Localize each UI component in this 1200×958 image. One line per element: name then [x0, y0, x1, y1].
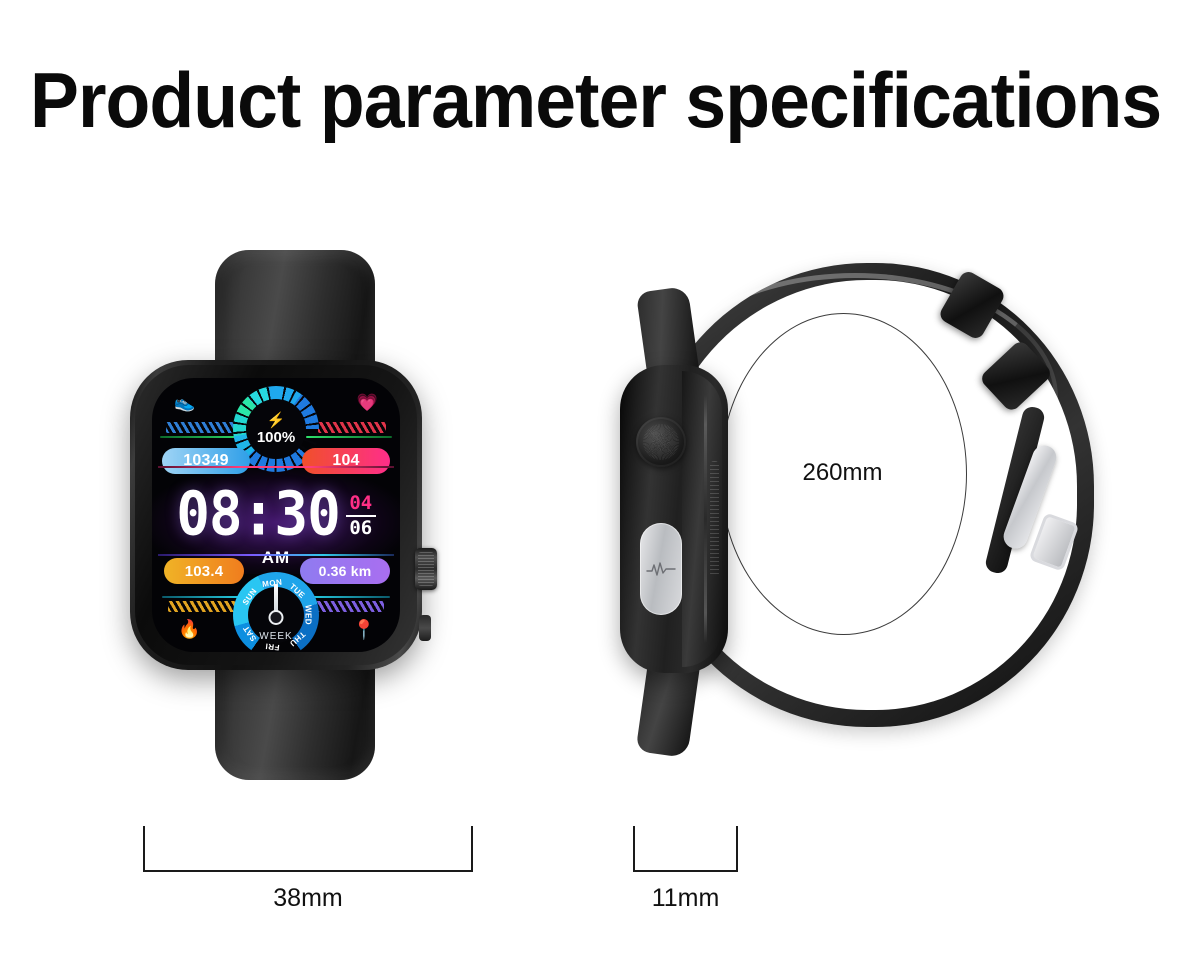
hatch-bar-distance [316, 601, 384, 612]
week-dial: WEEK SUNMONTUEWEDTHUFRISAT [233, 572, 319, 652]
time-label: 08:30 [176, 479, 340, 549]
week-dial-day-tue: TUE [288, 582, 307, 600]
hatch-bar-steps [166, 422, 234, 433]
dimension-line [633, 870, 738, 872]
accent-line-bottom-left [162, 596, 246, 598]
side-edge-highlight [704, 395, 707, 643]
date-top-label: 04 [349, 494, 372, 513]
side-button[interactable] [419, 615, 431, 641]
battery-percent-label: 100% [257, 429, 295, 446]
dimension-line [143, 870, 473, 872]
heart-pulse-icon: 💗 [357, 394, 378, 411]
neon-divider-top [158, 466, 394, 468]
calories-pill: 103.4 [164, 558, 244, 584]
hatch-bar-heart [318, 422, 386, 433]
watch-screen[interactable]: 👟 💗 ⚡ 100% 10349 104 [152, 378, 400, 652]
steps-pill: 10349 [162, 448, 250, 474]
lightning-bolt-icon: ⚡ [257, 413, 295, 428]
dimension-label-width: 38mm [143, 884, 473, 913]
watch-body-side [620, 365, 728, 673]
shoe-icon: 👟 [174, 394, 195, 411]
smartwatch-side-view: 260mm [600, 255, 1160, 785]
crown-button[interactable] [415, 548, 437, 590]
dimension-tick-left [143, 826, 145, 870]
flame-icon: 🔥 [178, 620, 200, 638]
dimension-label-thickness: 11mm [633, 884, 738, 913]
location-pin-icon: 📍 [352, 621, 376, 640]
crown-button-side[interactable] [636, 417, 686, 467]
hatch-bar-calories [168, 601, 236, 612]
band-circumference-label: 260mm [720, 313, 965, 633]
week-dial-day-mon: MON [262, 578, 283, 589]
dimension-tick-left [633, 826, 635, 870]
week-dial-hub [269, 610, 284, 625]
distance-pill: 0.36 km [300, 558, 390, 584]
heart-rate-pill: 104 [302, 448, 390, 474]
watch-face: 👟 💗 ⚡ 100% 10349 104 [152, 378, 400, 652]
ecg-wave-icon [646, 559, 676, 579]
accent-line-bottom-right [306, 596, 390, 598]
page-title: Product parameter specifications [30, 60, 1120, 142]
dimension-tick-right [736, 826, 738, 870]
date-stack: 04 06 [346, 494, 376, 538]
ecg-sensor-pad [640, 523, 682, 615]
product-spec-page: Product parameter specifications 👟 💗 [0, 0, 1200, 958]
watch-body: 👟 💗 ⚡ 100% 10349 104 [130, 360, 422, 670]
week-dial-day-fri: FRI [265, 641, 280, 652]
dimension-tick-right [471, 826, 473, 870]
accent-line-right [306, 436, 392, 438]
week-dial-day-sun: SUN [241, 587, 259, 607]
side-grip-texture [710, 461, 719, 577]
week-dial-day-wed: WED [304, 605, 313, 625]
smartwatch-front-view: 👟 💗 ⚡ 100% 10349 104 [130, 250, 460, 780]
time-block: 08:30 04 06 [152, 482, 400, 547]
neon-divider-bottom [158, 554, 394, 556]
date-bottom-label: 06 [349, 519, 372, 538]
